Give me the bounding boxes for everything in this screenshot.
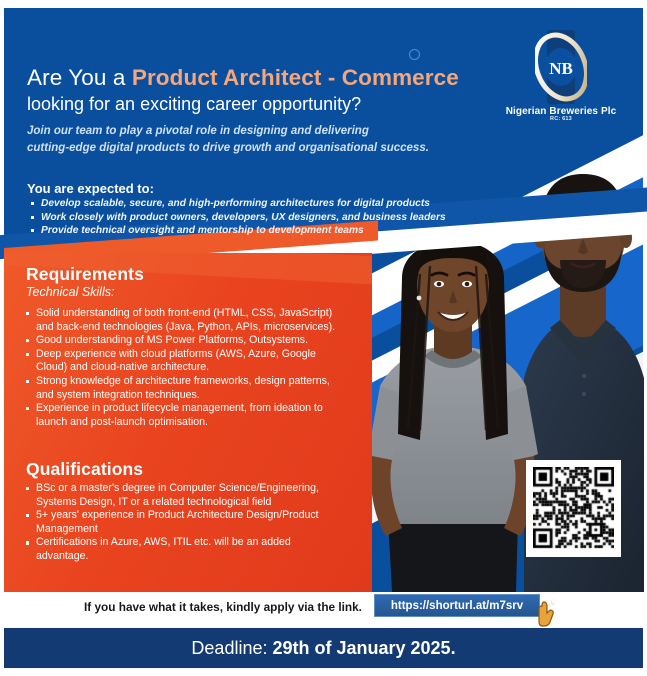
company-logo: NB Nigerian Breweries Plc RC: 613 — [500, 30, 622, 122]
requirement-item: Solid understanding of both front-end (H… — [26, 307, 338, 334]
job-advert-poster: Are You a Product Architect - Commerce l… — [0, 0, 647, 676]
intro-line-1: Join our team to play a pivotal role in … — [27, 123, 447, 140]
requirement-item: Good understanding of MS Power Platforms… — [26, 334, 338, 348]
expectations-list: Develop scalable, secure, and high-perfo… — [29, 197, 449, 238]
decorative-circle-icon — [409, 49, 420, 60]
deadline-date: 29th of January 2025. — [272, 638, 455, 658]
nb-logo-icon: NB — [535, 30, 587, 104]
deadline-bar: Deadline: 29th of January 2025. — [4, 628, 643, 668]
intro-paragraph: Join our team to play a pivotal role in … — [27, 123, 447, 156]
requirement-item: Strong knowledge of architecture framewo… — [26, 375, 338, 402]
qualification-item: Certifications in Azure, AWS, ITIL etc. … — [26, 536, 336, 563]
photo-woman — [358, 218, 548, 592]
expectation-item: Provide technical oversight and mentorsh… — [29, 224, 449, 238]
apply-link-button[interactable]: https://shorturl.at/m7srv — [374, 594, 540, 617]
intro-line-2: cutting-edge digital products to drive g… — [27, 140, 447, 157]
svg-text:NB: NB — [549, 59, 573, 78]
page-title: Are You a Product Architect - Commerce — [27, 65, 459, 91]
expectation-item: Develop scalable, secure, and high-perfo… — [29, 197, 449, 211]
requirements-title: Requirements — [26, 264, 144, 285]
headline-prefix: Are You a — [27, 65, 132, 90]
qualifications-list: BSc or a master's degree in Computer Sci… — [26, 482, 336, 564]
expectation-item: Work closely with product owners, develo… — [29, 211, 449, 225]
expectations-title: You are expected to: — [27, 181, 154, 196]
qualification-item: 5+ years' experience in Product Architec… — [26, 509, 336, 536]
requirements-list: Solid understanding of both front-end (H… — [26, 307, 338, 429]
requirement-item: Experience in product lifecycle manageme… — [26, 402, 338, 429]
apply-prompt: If you have what it takes, kindly apply … — [84, 600, 362, 614]
qr-code[interactable] — [526, 460, 621, 557]
requirement-item: Deep experience with cloud platforms (AW… — [26, 348, 338, 375]
deadline-label: Deadline: — [191, 638, 272, 658]
headline-role: Product Architect - Commerce — [132, 65, 459, 90]
qualifications-title: Qualifications — [26, 459, 143, 480]
hand-cursor-icon — [538, 600, 556, 628]
deadline-text: Deadline: 29th of January 2025. — [191, 638, 455, 659]
page-subtitle: looking for an exciting career opportuni… — [27, 94, 361, 115]
requirements-subtitle: Technical Skills: — [26, 285, 114, 299]
qualification-item: BSc or a master's degree in Computer Sci… — [26, 482, 336, 509]
